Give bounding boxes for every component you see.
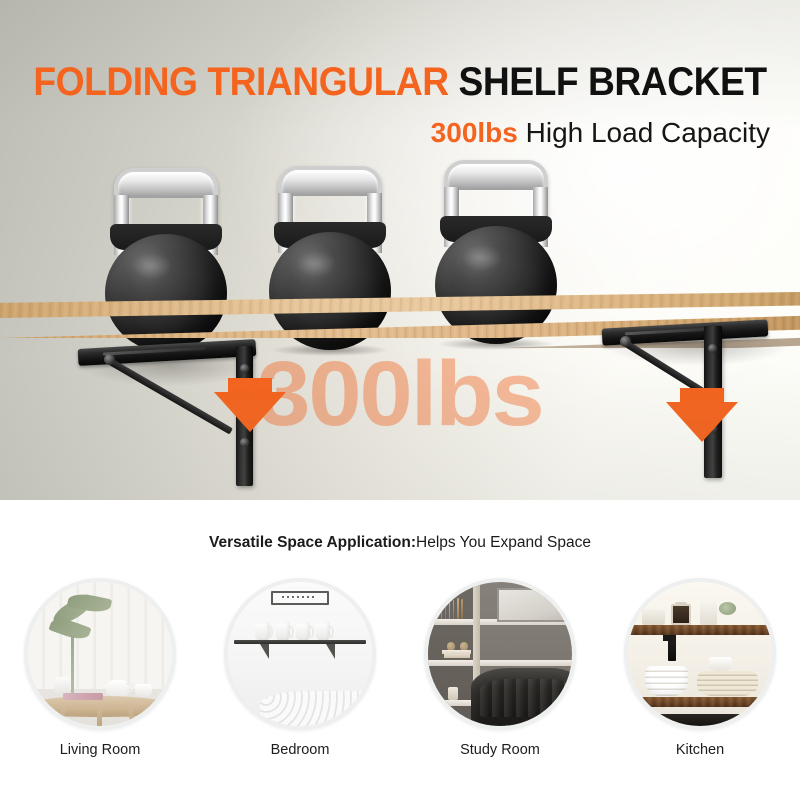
jar — [671, 604, 691, 626]
study-room-scene — [428, 582, 572, 726]
hero-section: 300lbs — [0, 0, 800, 500]
study-room-photo — [424, 578, 576, 730]
mug — [296, 622, 310, 641]
bracket-bolt-upper — [708, 344, 717, 353]
subtitle: 300lbs High Load Capacity — [0, 118, 800, 149]
application-card-study-room[interactable]: Study Room — [410, 578, 590, 758]
arrow-head — [214, 392, 286, 432]
bedroom-scene — [228, 582, 372, 726]
plant-stem — [71, 635, 74, 695]
jar — [448, 687, 458, 700]
wall-panel — [497, 588, 572, 623]
shelf-bracket-icon — [668, 635, 675, 661]
application-section: Versatile Space Application:Helps You Ex… — [0, 500, 800, 800]
cup — [709, 657, 732, 671]
shelf-bracket-icon — [326, 644, 335, 659]
bowl-stack — [645, 666, 688, 698]
book — [449, 598, 450, 619]
arrow-head — [666, 402, 738, 442]
book-stack — [444, 654, 470, 658]
product-marketing-image: 300lbs — [0, 0, 800, 800]
book — [63, 693, 103, 700]
shelf-bracket-icon — [260, 644, 269, 659]
page-title: FOLDING TRIANGULAR SHELF BRACKET — [28, 62, 772, 102]
jar — [700, 601, 717, 625]
headline-orange: FOLDING TRIANGULAR — [33, 60, 448, 104]
mug — [276, 622, 290, 641]
kitchen-photo — [624, 578, 776, 730]
living-room-scene — [28, 582, 172, 726]
application-card-bedroom[interactable]: Bedroom — [210, 578, 390, 758]
section-heading: Versatile Space Application:Helps You Ex… — [0, 534, 800, 552]
book — [445, 599, 446, 619]
wall-shelf — [234, 640, 366, 645]
card-label: Kitchen — [676, 742, 724, 758]
bracket-pivot-bolt — [620, 336, 631, 347]
vase — [54, 677, 70, 694]
book — [461, 599, 462, 620]
counter-base — [654, 714, 755, 726]
book — [457, 598, 458, 620]
kitchen-shelf-lower — [624, 697, 776, 707]
mug — [255, 622, 269, 641]
card-label: Bedroom — [271, 742, 330, 758]
kitchen-scene — [628, 582, 772, 726]
mug — [316, 622, 330, 641]
card-label: Study Room — [460, 742, 540, 758]
book-row — [441, 598, 470, 620]
living-room-photo — [24, 578, 176, 730]
book — [441, 598, 442, 620]
plate-stack — [697, 671, 757, 697]
capacity-value: 300lbs — [431, 117, 518, 148]
office-chair — [471, 668, 576, 726]
jar — [642, 609, 665, 625]
section-heading-normal: Helps You Expand Space — [416, 534, 591, 551]
kitchen-shelf-upper — [624, 625, 776, 635]
plant — [719, 602, 736, 615]
application-card-living-room[interactable]: Living Room — [10, 578, 190, 758]
application-card-kitchen[interactable]: Kitchen — [610, 578, 790, 758]
table-leg — [97, 703, 102, 726]
bracket-bolt-lower — [240, 438, 249, 447]
bedroom-photo — [224, 578, 376, 730]
card-label: Living Room — [60, 742, 141, 758]
book — [453, 600, 454, 620]
bookcase-shelf — [428, 660, 572, 666]
bracket-pivot-bolt — [104, 354, 115, 365]
section-heading-bold: Versatile Space Application: — [209, 534, 416, 551]
application-card-list: Living Room Bedroom — [0, 578, 800, 758]
cup — [135, 684, 152, 697]
capacity-label: High Load Capacity — [518, 117, 770, 148]
teapot — [106, 680, 129, 696]
wall-frame — [271, 591, 329, 605]
bed — [260, 691, 376, 726]
headline-black: SHELF BRACKET — [459, 60, 767, 104]
bracket-bolt-upper — [240, 364, 249, 373]
